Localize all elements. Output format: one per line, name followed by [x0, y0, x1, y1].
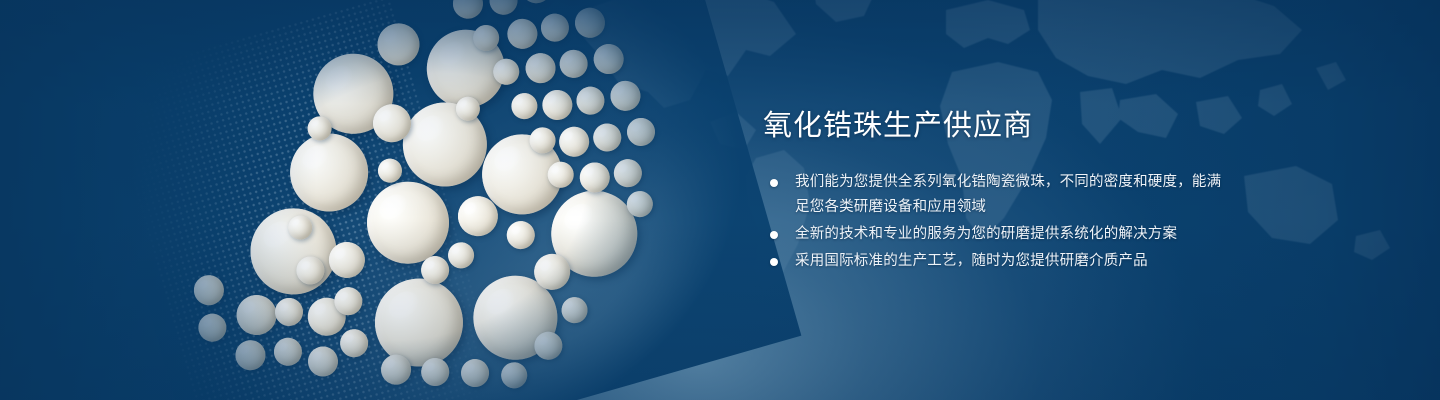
bullet-dot-icon — [770, 231, 778, 239]
banner-bullet-text: 我们能为您提供全系列氧化锆陶瓷微珠，不同的密度和硬度，能满足您各类研磨设备和应用… — [795, 174, 1221, 215]
banner-bullet-item: 采用国际标准的生产工艺，随时为您提供研磨介质产品 — [763, 249, 1233, 274]
banner-bullet-item: 我们能为您提供全系列氧化锆陶瓷微珠，不同的密度和硬度，能满足您各类研磨设备和应用… — [763, 170, 1233, 220]
banner-bullet-item: 全新的技术和专业的服务为您的研磨提供系统化的解决方案 — [763, 222, 1233, 247]
hero-banner: 氧化锆珠生产供应商 我们能为您提供全系列氧化锆陶瓷微珠，不同的密度和硬度，能满足… — [0, 0, 1440, 400]
banner-headline: 氧化锆珠生产供应商 — [763, 108, 1233, 144]
banner-bullet-text: 全新的技术和专业的服务为您的研磨提供系统化的解决方案 — [795, 226, 1177, 242]
banner-bullet-list: 我们能为您提供全系列氧化锆陶瓷微珠，不同的密度和硬度，能满足您各类研磨设备和应用… — [763, 170, 1233, 274]
bullet-dot-icon — [770, 179, 778, 187]
banner-bullet-text: 采用国际标准的生产工艺，随时为您提供研磨介质产品 — [795, 253, 1148, 269]
banner-copy: 氧化锆珠生产供应商 我们能为您提供全系列氧化锆陶瓷微珠，不同的密度和硬度，能满足… — [763, 108, 1233, 276]
bullet-dot-icon — [770, 258, 778, 266]
